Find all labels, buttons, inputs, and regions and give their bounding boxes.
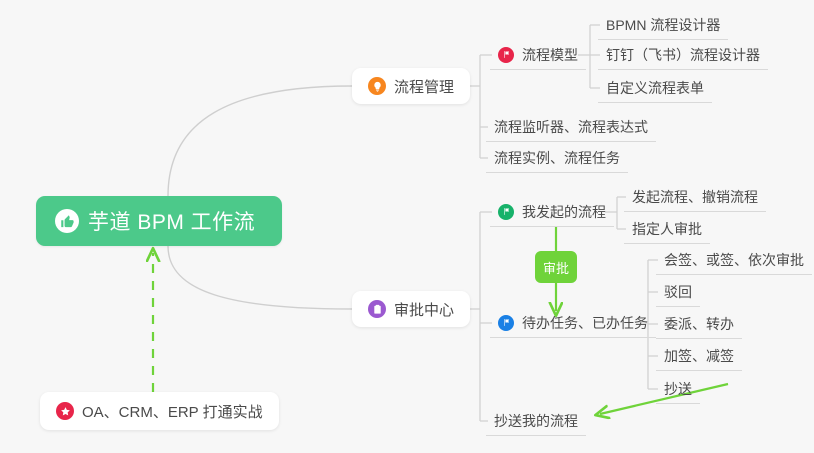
mindmap-canvas: 芋道 BPM 工作流 流程管理 流程模型 BPMN 流程设计器 钉钉（飞书）流程… — [0, 0, 814, 453]
leaf-label: 待办任务、已办任务 — [522, 313, 648, 333]
leaf-label: 我发起的流程 — [522, 202, 606, 222]
leaf-cc[interactable]: 抄送 — [656, 374, 700, 404]
star-icon — [56, 402, 74, 420]
root-node[interactable]: 芋道 BPM 工作流 — [36, 196, 282, 246]
leaf-label: 发起流程、撤销流程 — [632, 187, 758, 207]
leaf-label: BPMN 流程设计器 — [606, 15, 720, 35]
leaf-label: 流程实例、流程任务 — [494, 148, 620, 168]
leaf-label: 驳回 — [664, 282, 692, 302]
footer-card-oa-crm-erp[interactable]: OA、CRM、ERP 打通实战 — [40, 392, 279, 430]
flag-icon — [498, 204, 514, 220]
leaf-add-remove-sign[interactable]: 加签、减签 — [656, 341, 742, 371]
leaf-label: 钉钉（飞书）流程设计器 — [606, 45, 760, 65]
leaf-cc-to-me-process[interactable]: 抄送我的流程 — [486, 406, 586, 436]
leaf-label: 流程模型 — [522, 45, 578, 65]
leaf-bpmn-designer[interactable]: BPMN 流程设计器 — [598, 10, 728, 40]
approval-highlight-box: 审批 — [535, 251, 577, 283]
flag-icon — [498, 315, 514, 331]
flag-icon — [498, 47, 514, 63]
branch-process-management[interactable]: 流程管理 — [352, 68, 470, 104]
leaf-my-initiated-process[interactable]: 我发起的流程 — [490, 197, 614, 227]
connector-root-to-process-management — [168, 86, 352, 196]
leaf-label: 自定义流程表单 — [606, 78, 704, 98]
leaf-delegate-transfer[interactable]: 委派、转办 — [656, 309, 742, 339]
leaf-todo-done-tasks[interactable]: 待办任务、已办任务 — [490, 308, 656, 338]
branch-label: 审批中心 — [394, 299, 454, 320]
leaf-instance-task[interactable]: 流程实例、流程任务 — [486, 143, 628, 173]
leaf-custom-process-form[interactable]: 自定义流程表单 — [598, 73, 712, 103]
footer-card-label: OA、CRM、ERP 打通实战 — [82, 401, 263, 422]
root-label: 芋道 BPM 工作流 — [88, 206, 255, 236]
thumbs-up-icon — [55, 209, 79, 233]
leaf-label: 会签、或签、依次审批 — [664, 250, 804, 270]
leaf-start-cancel-process[interactable]: 发起流程、撤销流程 — [624, 182, 766, 212]
leaf-label: 加签、减签 — [664, 346, 734, 366]
leaf-assignee-approval[interactable]: 指定人审批 — [624, 214, 710, 244]
leaf-label: 流程监听器、流程表达式 — [494, 117, 648, 137]
branch-label: 流程管理 — [394, 76, 454, 97]
leaf-reject[interactable]: 驳回 — [656, 277, 700, 307]
leaf-listener-expression[interactable]: 流程监听器、流程表达式 — [486, 112, 656, 142]
approval-highlight-label: 审批 — [543, 258, 569, 277]
lightbulb-icon — [368, 77, 386, 95]
leaf-dingtalk-feishu-designer[interactable]: 钉钉（飞书）流程设计器 — [598, 40, 768, 70]
branch-approval-center[interactable]: 审批中心 — [352, 291, 470, 327]
leaf-label: 委派、转办 — [664, 314, 734, 334]
connector-root-to-approval-center — [168, 246, 352, 309]
leaf-label: 抄送我的流程 — [494, 411, 578, 431]
leaf-label: 指定人审批 — [632, 219, 702, 239]
leaf-process-model[interactable]: 流程模型 — [490, 40, 586, 70]
clipboard-icon — [368, 300, 386, 318]
leaf-label: 抄送 — [664, 379, 692, 399]
leaf-countersign[interactable]: 会签、或签、依次审批 — [656, 245, 812, 275]
